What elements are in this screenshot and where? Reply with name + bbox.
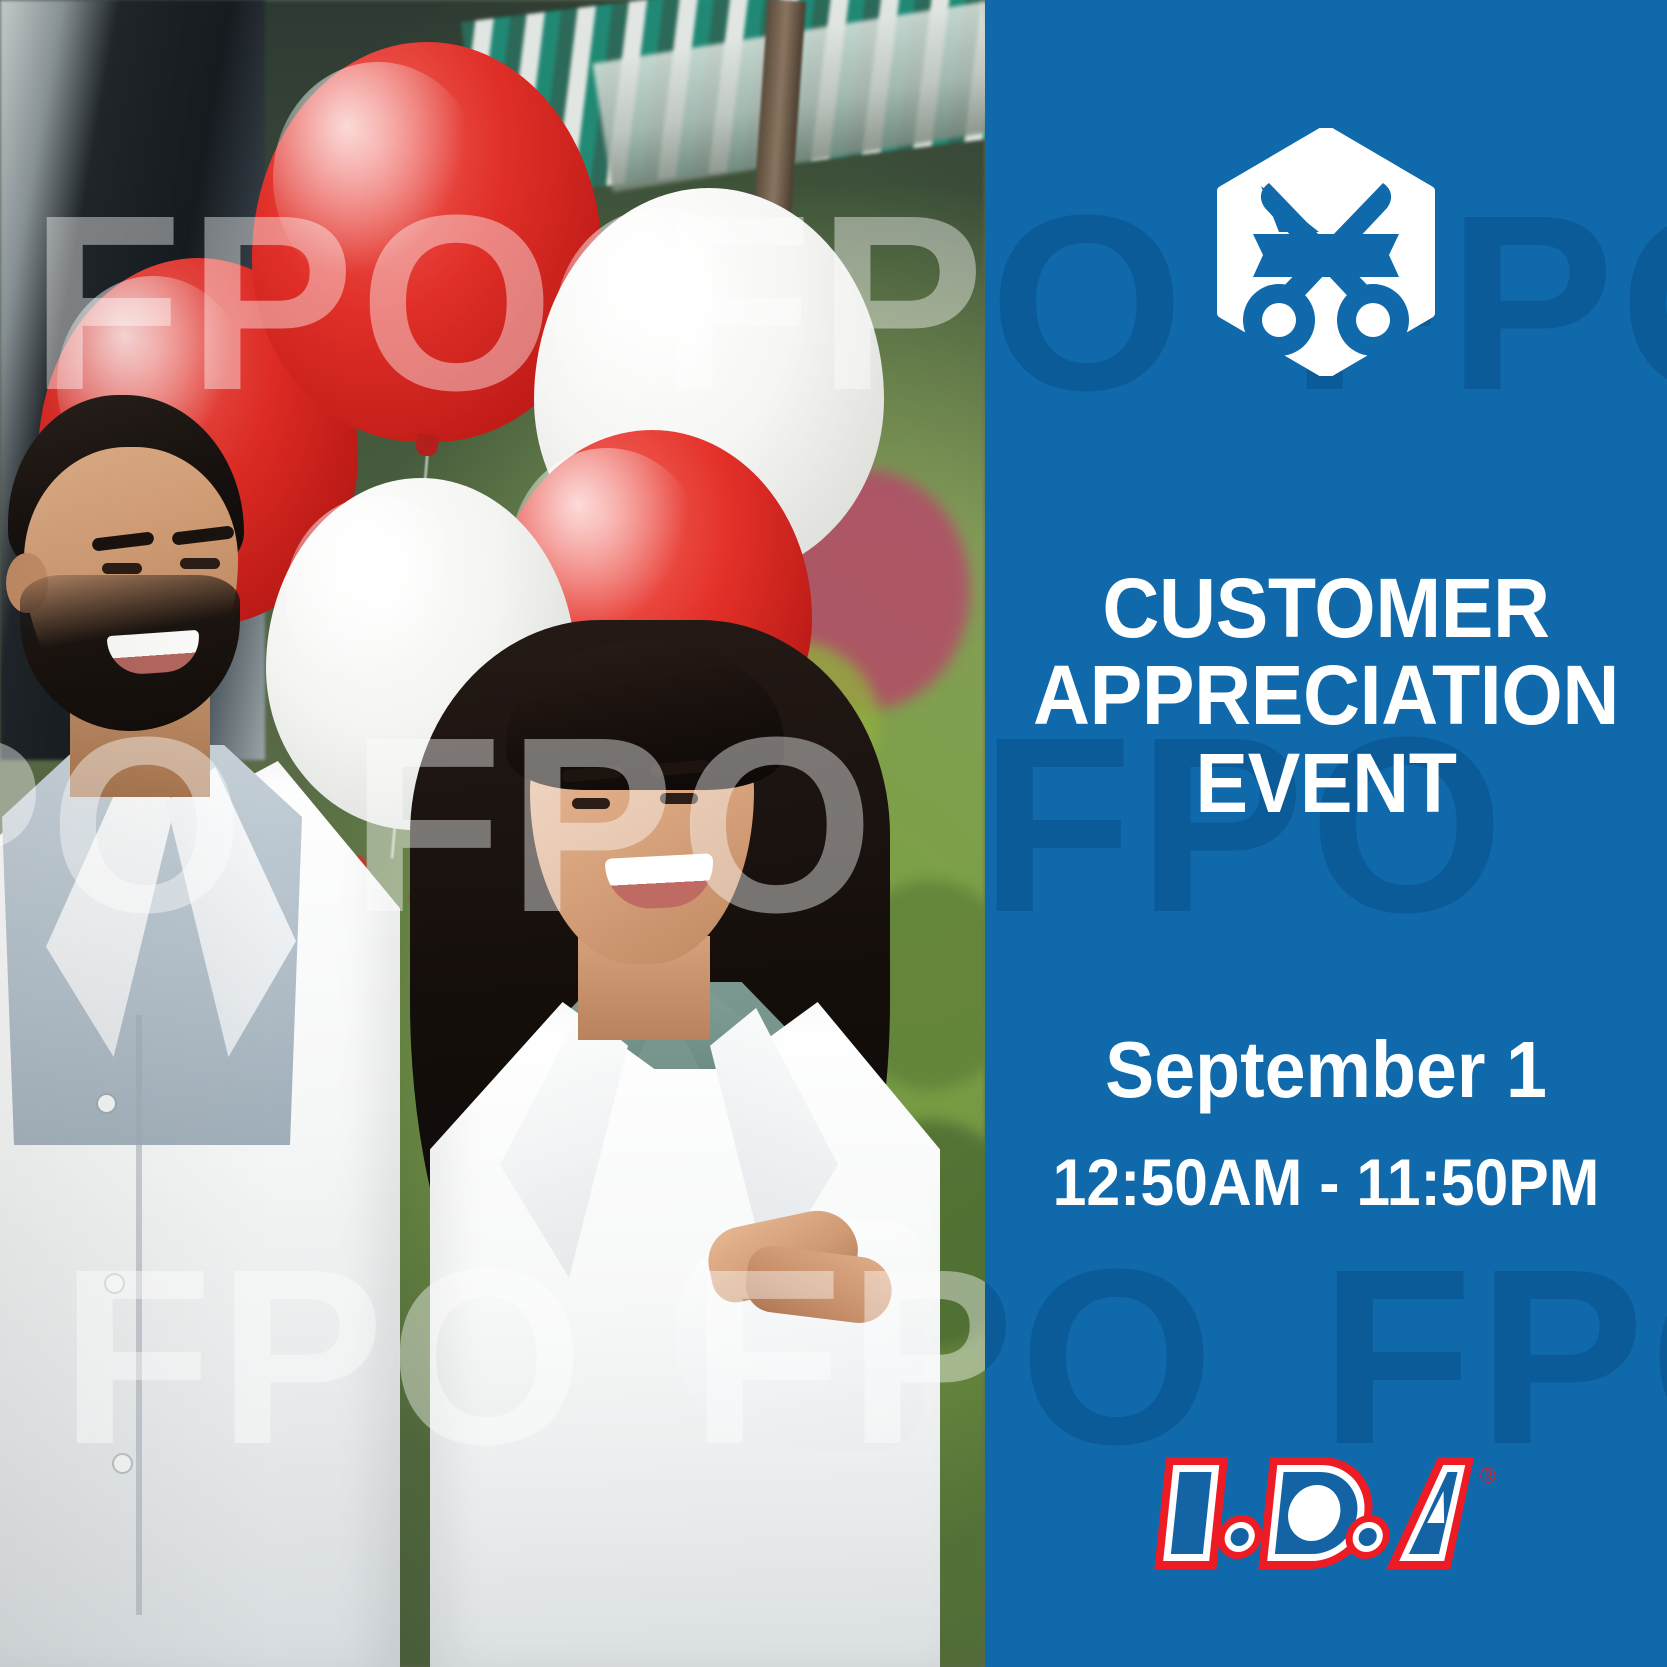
headline-line-2: APPRECIATION (1019, 652, 1634, 739)
eye (660, 793, 698, 804)
promo-poster: FPO FPO FPO FPO FPO FPO FPO FPO FPO FPO … (0, 0, 1667, 1667)
coat-button (106, 1275, 123, 1292)
event-date: September 1 (1012, 1028, 1639, 1112)
hand (743, 1243, 896, 1326)
lab-coat-placket (136, 1015, 142, 1615)
headline-line-1: CUSTOMER (1019, 565, 1634, 652)
event-photo: FPO FPO FPO FPO FPO FPO (0, 0, 985, 1667)
coat-button (98, 1095, 115, 1112)
event-time: 12:50AM - 11:50PM (1012, 1148, 1639, 1217)
eye (180, 558, 220, 569)
ribbon-cutting-scissors-hexagon-icon (1217, 128, 1435, 376)
coat-button (114, 1455, 131, 1472)
svg-text:®: ® (1480, 1463, 1496, 1488)
male-pharmacist (0, 395, 420, 1667)
fpo-watermark-text: FPO (985, 178, 1189, 428)
page-title: CUSTOMER APPRECIATION EVENT (1005, 565, 1646, 827)
clasped-hands (708, 1200, 894, 1320)
eye (102, 563, 142, 574)
event-details-panel: FPO FPO FPO FPO FPO (985, 0, 1667, 1667)
headline-line-3: EVENT (1019, 740, 1634, 827)
female-pharmacist (378, 610, 938, 1667)
ida-pharmacy-logo: ® (1146, 1439, 1506, 1589)
eye (572, 798, 610, 809)
